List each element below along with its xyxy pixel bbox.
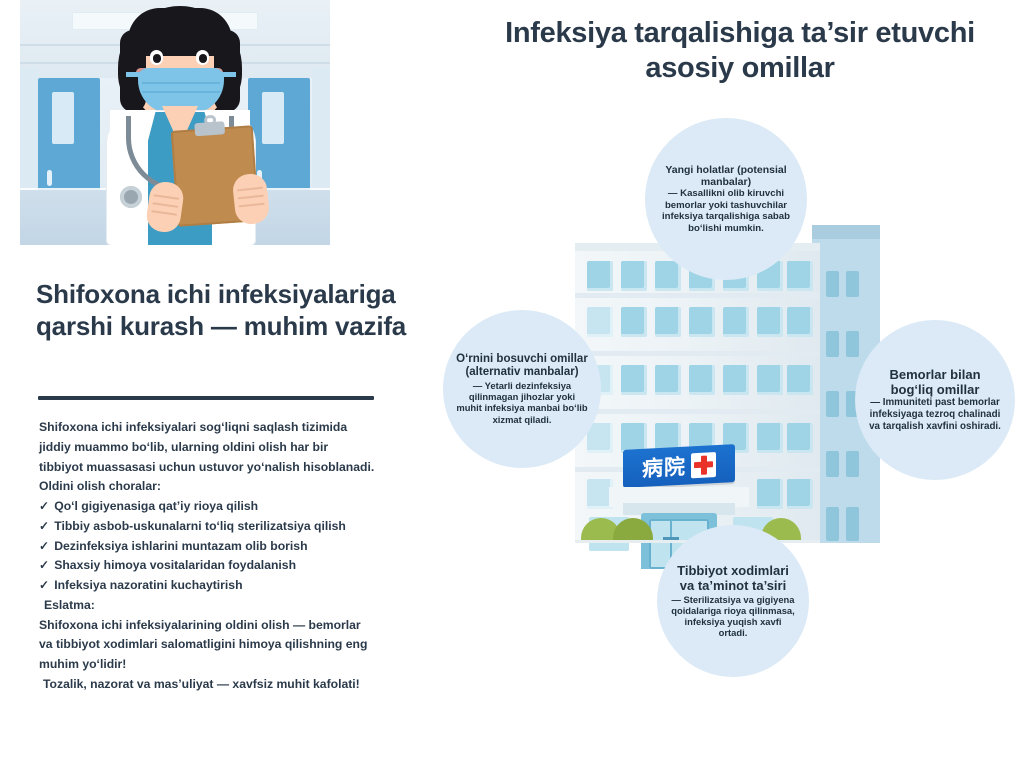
- building-side-top: [812, 225, 880, 239]
- door-window: [52, 92, 74, 144]
- paragraph-line: Shifoxona ichi infeksiyalari sog‘liqni s…: [39, 418, 419, 438]
- check-icon: ✓: [39, 497, 49, 517]
- bubble-body: — Yetarli dezinfeksiya qilinmagan jihozl…: [455, 380, 589, 425]
- note-line: Shifoxona ichi infeksiyalarining oldini …: [39, 616, 419, 636]
- door-handle: [47, 170, 52, 186]
- check-icon: ✓: [39, 517, 49, 537]
- mask-fold: [142, 91, 220, 93]
- heading-divider: [38, 396, 374, 400]
- page-title: Infeksiya tarqalishiga ta’sir etuvchi as…: [462, 16, 1018, 87]
- bubble-body: — Sterilizatsiya va gigiyena qoidalariga…: [669, 594, 797, 639]
- hospital-sign: 病院: [623, 444, 735, 488]
- list-item: ✓ Tibbiy asbob-uskunalarni to‘liq steril…: [39, 517, 419, 537]
- infographic-page: Shifoxona ichi infeksiyalariga qarshi ku…: [0, 0, 1024, 768]
- building-facade: 病院: [575, 251, 820, 543]
- paragraph-line: jiddiy muammo bo‘lib, ularning oldini ol…: [39, 438, 419, 458]
- prevention-measures-list: ✓ Qo‘l gigiyenasiga qat’iy rioya qilish …: [39, 497, 419, 596]
- note-line: muhim yo‘lidir!: [39, 655, 419, 675]
- eye: [196, 50, 209, 65]
- doctor-figure: [92, 6, 268, 245]
- paragraph-line: tibbiyot muassasasi uchun ustuvor yo‘nal…: [39, 458, 419, 478]
- list-item: ✓ Dezinfeksiya ishlarini muntazam olib b…: [39, 537, 419, 557]
- factor-bubble-alternative-sources: O‘rnini bosuvchi omillar (alternativ man…: [443, 310, 601, 468]
- factor-bubble-staff-supply: Tibbiyot xodimlari va ta’minot ta’siri —…: [657, 525, 809, 677]
- doctor-photo: [20, 0, 330, 245]
- closing-statement: Tozalik, nazorat va mas’uliyat — xavfsiz…: [39, 675, 419, 695]
- list-item-label: Infeksiya nazoratini kuchaytirish: [54, 576, 242, 596]
- measures-label: Oldini olish choralar:: [39, 477, 419, 497]
- wall-panel: [312, 68, 330, 188]
- hand: [231, 172, 270, 225]
- hospital-sign-text: 病院: [642, 451, 686, 483]
- mask-fold: [142, 82, 220, 84]
- list-item: ✓ Shaxsiy himoya vositalaridan foydalani…: [39, 556, 419, 576]
- factor-bubble-patient-factors: Bemorlar bilan bog‘liq omillar — Immunit…: [855, 320, 1015, 480]
- note-line: va tibbiyot xodimlari salomatligini himo…: [39, 635, 419, 655]
- mask-strap: [222, 72, 236, 77]
- bubble-heading: Tibbiyot xodimlari va ta’minot ta’siri: [669, 563, 797, 593]
- factor-bubble-new-cases: Yangi holatlar (potensial manbalar) — Ka…: [645, 118, 807, 280]
- bubble-heading: Bemorlar bilan bog‘liq omillar: [867, 367, 1003, 397]
- check-icon: ✓: [39, 576, 49, 596]
- bubble-body: — Immuniteti past bemorlar infeksiyaga t…: [867, 397, 1003, 432]
- list-item: ✓ Qo‘l gigiyenasiga qat’iy rioya qilish: [39, 497, 419, 517]
- stethoscope-chestpiece: [120, 186, 142, 208]
- check-icon: ✓: [39, 556, 49, 576]
- list-item-label: Qo‘l gigiyenasiga qat’iy rioya qilish: [54, 497, 258, 517]
- note-label: Eslatma:: [39, 596, 419, 616]
- list-item: ✓ Infeksiya nazoratini kuchaytirish: [39, 576, 419, 596]
- pupil: [199, 54, 207, 63]
- red-cross-icon: [691, 452, 716, 478]
- list-item-label: Shaxsiy himoya vositalaridan foydalanish: [54, 556, 296, 576]
- wall-panel: [20, 68, 38, 188]
- left-body: Shifoxona ichi infeksiyalari sog‘liqni s…: [39, 418, 419, 695]
- list-item-label: Tibbiy asbob-uskunalarni to‘liq steriliz…: [54, 517, 346, 537]
- eye: [150, 50, 163, 65]
- check-icon: ✓: [39, 537, 49, 557]
- left-heading: Shifoxona ichi infeksiyalariga qarshi ku…: [36, 278, 428, 342]
- bubble-body: — Kasallikni olib kiruvchi bemorlar yoki…: [657, 188, 795, 234]
- bubble-heading: O‘rnini bosuvchi omillar (alternativ man…: [455, 353, 589, 380]
- list-item-label: Dezinfeksiya ishlarini muntazam olib bor…: [54, 537, 307, 557]
- bubble-heading: Yangi holatlar (potensial manbalar): [657, 164, 795, 188]
- pupil: [153, 54, 161, 63]
